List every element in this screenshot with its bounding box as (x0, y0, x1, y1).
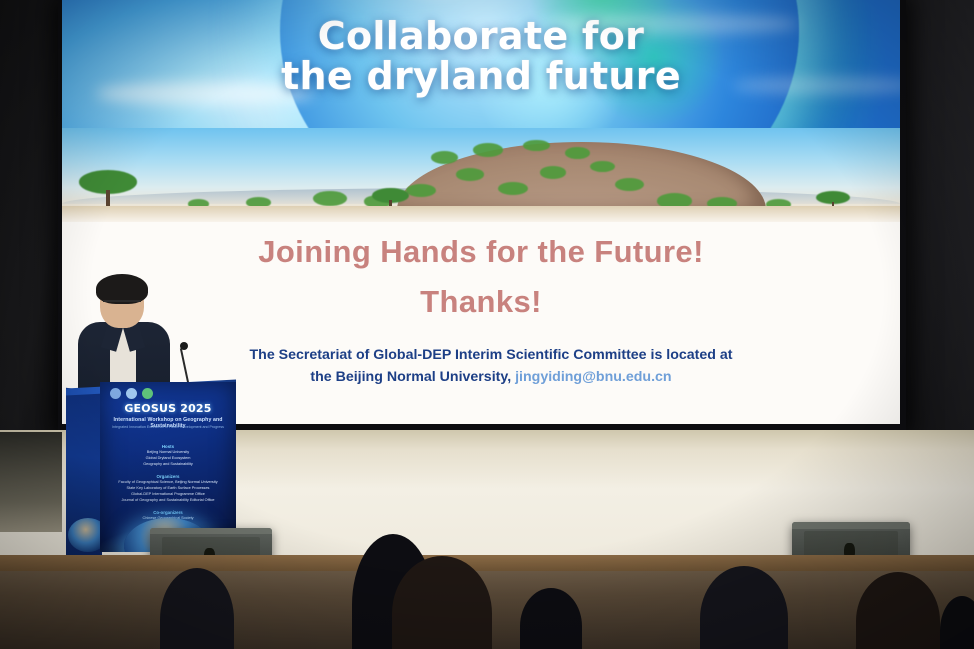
hill-shrub (540, 166, 567, 178)
organizer-logo-icon (126, 388, 137, 399)
podium-section-line: Geography and Sustainability (108, 462, 228, 468)
hill-shrub (473, 143, 503, 156)
slide-title-line1: Collaborate for (62, 16, 900, 56)
dryland-landscape-photo (62, 128, 900, 224)
hill-shrub (565, 147, 590, 159)
hill-shrub (523, 140, 550, 152)
podium-event-subtitle2: Integrated Innovation Excellence in Futu… (110, 425, 226, 429)
auditorium-wall-right (898, 0, 974, 470)
hill-shrub (456, 168, 484, 180)
podium-section-line: Journal of Geography and Sustainability … (108, 498, 228, 504)
monitor-top (792, 522, 910, 529)
conference-photo: Collaborate for the dryland future (0, 0, 974, 649)
hill-shrub (590, 161, 615, 173)
podium-event-title: GEOSUS 2025 (100, 402, 236, 415)
slide-headline: Joining Hands for the Future! (62, 234, 900, 270)
projection-screen: Collaborate for the dryland future (62, 0, 900, 424)
ground-shrub (313, 191, 347, 205)
slide-header-band: Collaborate for the dryland future (62, 0, 900, 142)
podium-section-organizers: Organizers Faculty of Geographical Scien… (108, 474, 228, 504)
hill-shrub (406, 184, 436, 197)
organizer-logo-icon (142, 388, 153, 399)
slide-note-line1: The Secretariat of Global-DEP Interim Sc… (249, 347, 732, 363)
podium-section-hosts: Hosts Beijing Normal University Global D… (108, 444, 228, 468)
slide-title: Collaborate for the dryland future (62, 16, 900, 97)
stage-floor-shadow (0, 432, 62, 532)
organizer-logos (110, 388, 153, 399)
slide-subhead: Thanks! (62, 284, 900, 320)
hill-shrub (498, 182, 528, 195)
podium-section-heading: Co-organizers (108, 510, 228, 515)
hill-shrub (615, 178, 643, 191)
slide-title-line2: the dryland future (62, 56, 900, 96)
monitor-top (150, 528, 272, 534)
speaker-glasses (103, 300, 141, 308)
slide-note-line2: the Beijing Normal University, (310, 369, 511, 385)
podium-event-name: GEOSUS 2025 (124, 402, 211, 415)
acacia-tree (79, 170, 138, 208)
organizer-logo-icon (110, 388, 121, 399)
microphone-icon (180, 342, 188, 350)
podium-section-heading: Organizers (108, 474, 228, 479)
podium-banner: GEOSUS 2025 International Workshop on Ge… (100, 382, 236, 552)
podium-section-line: Faculty of Geographical Science, Beijing… (108, 480, 228, 486)
podium-section-heading: Hosts (108, 444, 228, 449)
contact-email[interactable]: jingyiding@bnu.edu.cn (515, 369, 672, 385)
hill-shrub (431, 151, 458, 163)
audience-desk-row (0, 555, 974, 571)
